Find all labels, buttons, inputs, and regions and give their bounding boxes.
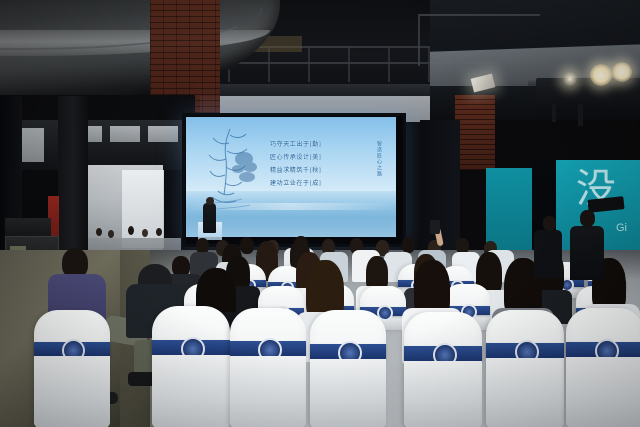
light-hanger [552, 104, 556, 122]
banner-sub-glyph: Gi [616, 222, 638, 238]
wall-signage [148, 126, 178, 142]
chair[interactable] [310, 310, 386, 427]
distant-person [108, 230, 114, 238]
attendee-head [402, 237, 415, 253]
chair[interactable] [486, 310, 564, 427]
distant-person [142, 229, 148, 237]
distant-person [156, 228, 162, 236]
brick-column-right [455, 95, 495, 170]
chair[interactable] [152, 306, 230, 427]
slide-side-caption: 智造匠心之路 [360, 141, 382, 189]
attendee-head [240, 237, 254, 254]
stage-light-lamp [612, 62, 632, 82]
mezzanine-post [388, 46, 390, 82]
chair[interactable] [404, 312, 482, 427]
chair[interactable] [34, 310, 110, 427]
stage-light-lamp [563, 72, 577, 86]
camera-assistant-body [534, 230, 562, 278]
poem-line-3: 精益求精筑千[秋] [270, 165, 350, 178]
poem-line-1: 巧夺天工出于[勤] [270, 139, 350, 152]
equipment-case-upper [5, 218, 51, 238]
poem-line-4: 建功立业在于[成] [270, 178, 350, 191]
light-hanger [578, 104, 583, 126]
presenter-body [203, 203, 216, 233]
camera-operator-head [580, 210, 595, 227]
led-screen: 巧夺天工出于[勤] 匠心传承设计[美] 精益求精筑千[秋] 建功立业在于[成] … [186, 117, 396, 237]
poem-line-2: 匠心传承设计[美] [270, 152, 350, 165]
camera-assistant-head [543, 216, 556, 231]
slide-poem-text: 巧夺天工出于[勤] 匠心传承设计[美] 精益求精筑千[秋] 建功立业在于[成] [270, 139, 350, 199]
mezzanine-post [348, 46, 350, 82]
mezzanine-post [308, 46, 310, 82]
wall-signage [22, 128, 44, 162]
stage-light-lamp [590, 64, 612, 86]
camera-operator-body [570, 226, 604, 280]
presenter-head [206, 197, 214, 205]
chair[interactable] [230, 308, 306, 427]
attendee-cap [138, 264, 172, 286]
chair[interactable] [566, 308, 640, 427]
wall-signage [110, 126, 140, 142]
distant-person [128, 226, 134, 235]
distant-person [96, 228, 102, 236]
smartphone-icon [430, 220, 440, 234]
event-photo-scene: 巧夺天工出于[勤] 匠心传承设计[美] 精益求精筑千[秋] 建功立业在于[成] … [0, 0, 640, 427]
